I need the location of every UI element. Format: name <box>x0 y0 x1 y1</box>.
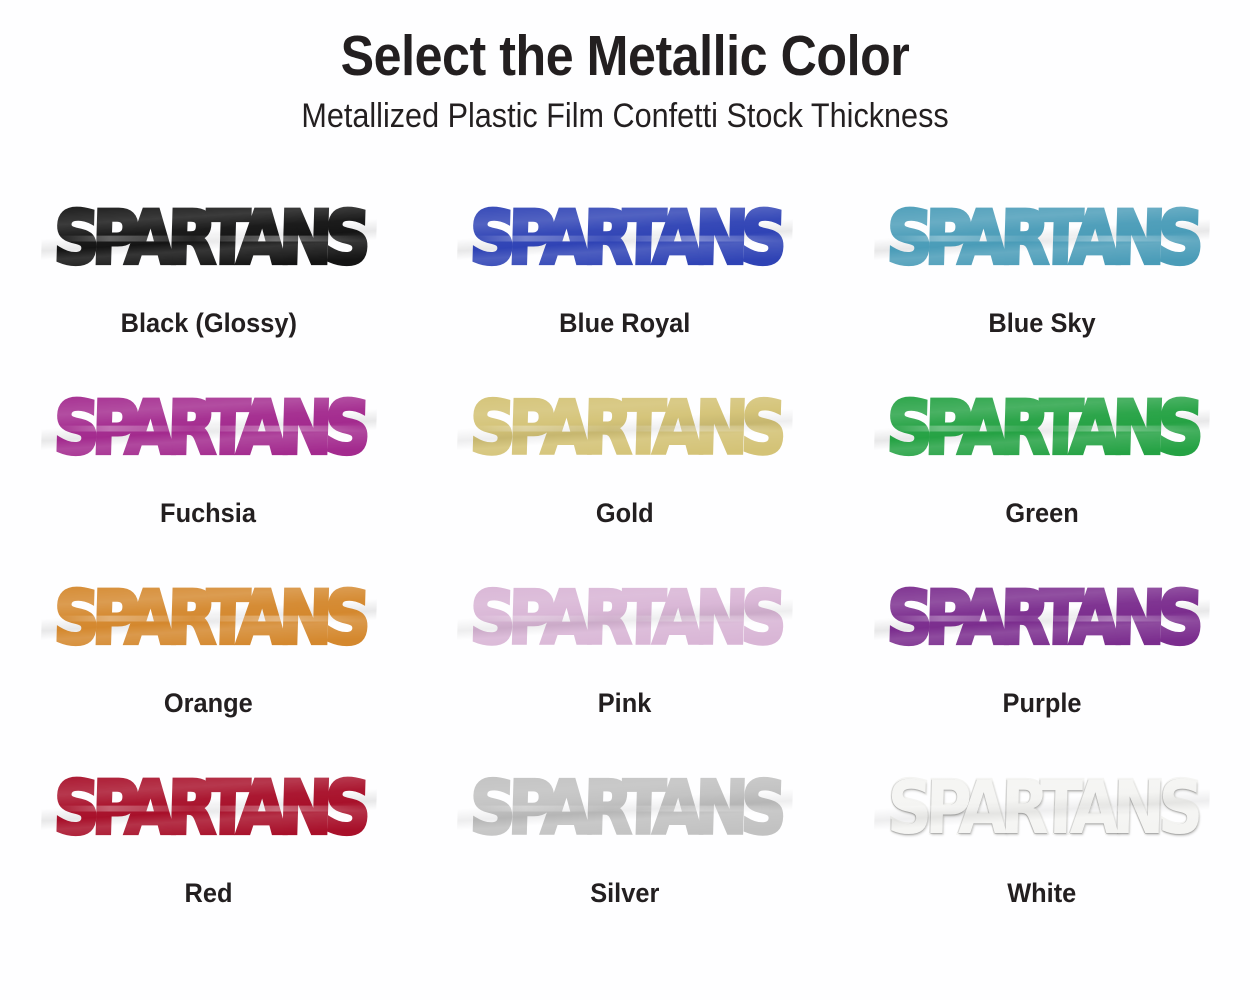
metallic-sheen-streak <box>54 425 364 431</box>
page-header: Select the Metallic Color Metallized Pla… <box>0 0 1250 136</box>
color-swatch[interactable]: SPARTANSFuchsia <box>0 376 417 566</box>
spartans-wordart: SPARTANS <box>469 771 781 844</box>
metallic-sheen-streak <box>54 805 364 811</box>
color-swatch[interactable]: SPARTANSGold <box>417 376 834 566</box>
color-swatch-label: Purple <box>1002 688 1081 719</box>
metallic-sheen-streak <box>887 805 1197 811</box>
color-swatch[interactable]: SPARTANSOrange <box>0 566 417 756</box>
color-swatch[interactable]: SPARTANSBlue Royal <box>417 186 834 376</box>
wordart-sample[interactable]: SPARTANS <box>0 186 417 290</box>
color-swatch-label: Silver <box>590 878 659 909</box>
color-swatch-label: Gold <box>596 498 654 529</box>
metallic-sheen-streak <box>887 425 1197 431</box>
wordart-sample[interactable]: SPARTANS <box>417 566 834 670</box>
color-swatch-label: Green <box>1005 498 1078 529</box>
spartans-wordart: SPARTANS <box>886 581 1198 654</box>
spartans-wordart: SPARTANS <box>53 391 365 464</box>
spartans-wordart: SPARTANS <box>886 771 1198 844</box>
metallic-sheen-streak <box>887 235 1197 241</box>
color-swatch-label: Fuchsia <box>160 498 256 529</box>
color-swatch[interactable]: SPARTANSRed <box>0 756 417 946</box>
color-swatch[interactable]: SPARTANSPink <box>417 566 834 756</box>
wordart-sample[interactable]: SPARTANS <box>0 376 417 480</box>
spartans-wordart: SPARTANS <box>53 201 365 274</box>
color-swatch-label: Red <box>184 878 232 909</box>
page-subtitle: Metallized Plastic Film Confetti Stock T… <box>63 98 1188 135</box>
color-swatch-label: Black (Glossy) <box>120 308 296 339</box>
color-swatch[interactable]: SPARTANSPurple <box>833 566 1250 756</box>
metallic-sheen-streak <box>54 235 364 241</box>
spartans-wordart: SPARTANS <box>886 391 1198 464</box>
color-swatch[interactable]: SPARTANSBlack (Glossy) <box>0 186 417 376</box>
wordart-sample[interactable]: SPARTANS <box>417 376 834 480</box>
wordart-sample[interactable]: SPARTANS <box>833 566 1250 670</box>
metallic-sheen-streak <box>470 615 780 621</box>
metallic-sheen-streak <box>470 805 780 811</box>
metallic-sheen-streak <box>470 235 780 241</box>
color-selection-page: Select the Metallic Color Metallized Pla… <box>0 0 1250 1000</box>
color-swatch-label: Orange <box>164 688 253 719</box>
wordart-sample[interactable]: SPARTANS <box>833 376 1250 480</box>
spartans-wordart: SPARTANS <box>53 771 365 844</box>
wordart-sample[interactable]: SPARTANS <box>833 186 1250 290</box>
color-swatch-label: Pink <box>598 688 652 719</box>
metallic-sheen-streak <box>470 425 780 431</box>
metallic-sheen-streak <box>887 615 1197 621</box>
spartans-wordart: SPARTANS <box>469 391 781 464</box>
page-title: Select the Metallic Color <box>75 26 1175 86</box>
color-swatch-label: Blue Royal <box>559 308 690 339</box>
color-swatch[interactable]: SPARTANSGreen <box>833 376 1250 566</box>
color-swatch[interactable]: SPARTANSBlue Sky <box>833 186 1250 376</box>
color-swatch[interactable]: SPARTANSWhite <box>833 756 1250 946</box>
color-swatch-label: Blue Sky <box>988 308 1095 339</box>
color-swatch-grid: SPARTANSBlack (Glossy)SPARTANSBlue Royal… <box>0 186 1250 946</box>
color-swatch[interactable]: SPARTANSSilver <box>417 756 834 946</box>
spartans-wordart: SPARTANS <box>886 201 1198 274</box>
wordart-sample[interactable]: SPARTANS <box>417 186 834 290</box>
spartans-wordart: SPARTANS <box>469 581 781 654</box>
color-swatch-label: White <box>1007 878 1076 909</box>
wordart-sample[interactable]: SPARTANS <box>833 756 1250 860</box>
metallic-sheen-streak <box>54 615 364 621</box>
spartans-wordart: SPARTANS <box>53 581 365 654</box>
wordart-sample[interactable]: SPARTANS <box>417 756 834 860</box>
wordart-sample[interactable]: SPARTANS <box>0 566 417 670</box>
wordart-sample[interactable]: SPARTANS <box>0 756 417 860</box>
spartans-wordart: SPARTANS <box>469 201 781 274</box>
